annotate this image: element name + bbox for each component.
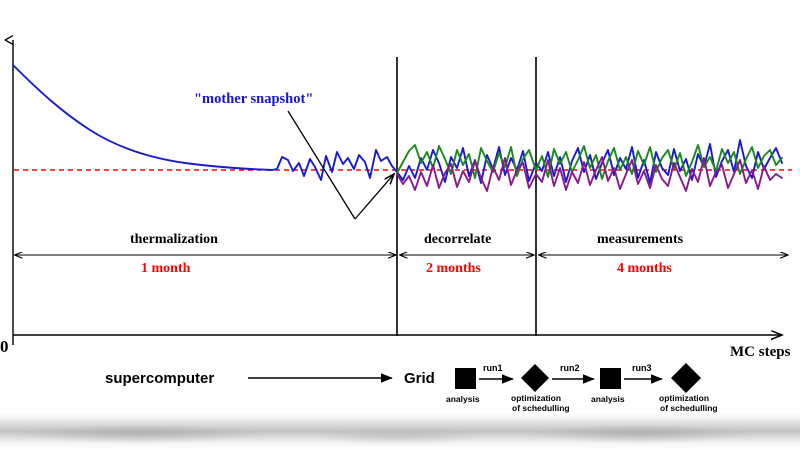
pipeline-node-label-optimization-1-line1: optimization (511, 393, 561, 403)
pipeline-node-optimization-2[interactable] (671, 363, 701, 393)
phase-duration-thermalization: 1 month (141, 261, 191, 276)
phase-label-decorrelate: decorrelate (424, 232, 491, 247)
x-axis-label: MC steps (730, 344, 791, 360)
diagram-canvas: 0 MC steps "mother snapshot" thermalizat… (0, 0, 800, 450)
pipeline-node-analysis-2[interactable] (600, 368, 621, 389)
pipeline-node-analysis-1[interactable] (455, 368, 476, 389)
pipeline-edge-label-run1: run1 (483, 363, 503, 373)
pipeline-edge-label-run3: run3 (632, 363, 652, 373)
pipeline-node-label-optimization-2-line1: optimization (659, 393, 709, 403)
phase-duration-decorrelate: 2 months (426, 261, 481, 276)
pipeline-source-label: supercomputer (105, 370, 214, 387)
series-thermalization-decay (13, 65, 272, 170)
pipeline-target-label: Grid (404, 370, 435, 387)
series-blue-pre-snapshot (272, 150, 397, 180)
mother-snapshot-label: "mother snapshot" (194, 91, 313, 107)
phase-label-measurements: measurements (597, 232, 684, 247)
pipeline-node-optimization-1[interactable] (521, 364, 549, 392)
mother-snapshot-arrow (355, 174, 394, 219)
phase-duration-measurements: 4 months (617, 261, 672, 276)
pipeline-edge-label-run2: run2 (560, 363, 580, 373)
pipeline-node-label-analysis-2: analysis (591, 394, 625, 404)
mc-workflow-diagram: 0 MC steps "mother snapshot" thermalizat… (0, 0, 800, 450)
origin-label: 0 (0, 337, 9, 356)
pipeline-node-label-analysis-1: analysis (446, 394, 480, 404)
pipeline-node-label-optimization-1-line2: of schedulling (512, 403, 570, 413)
pipeline-node-label-optimization-2-line2: of schedulling (660, 403, 718, 413)
phase-label-thermalization: thermalization (130, 232, 218, 247)
